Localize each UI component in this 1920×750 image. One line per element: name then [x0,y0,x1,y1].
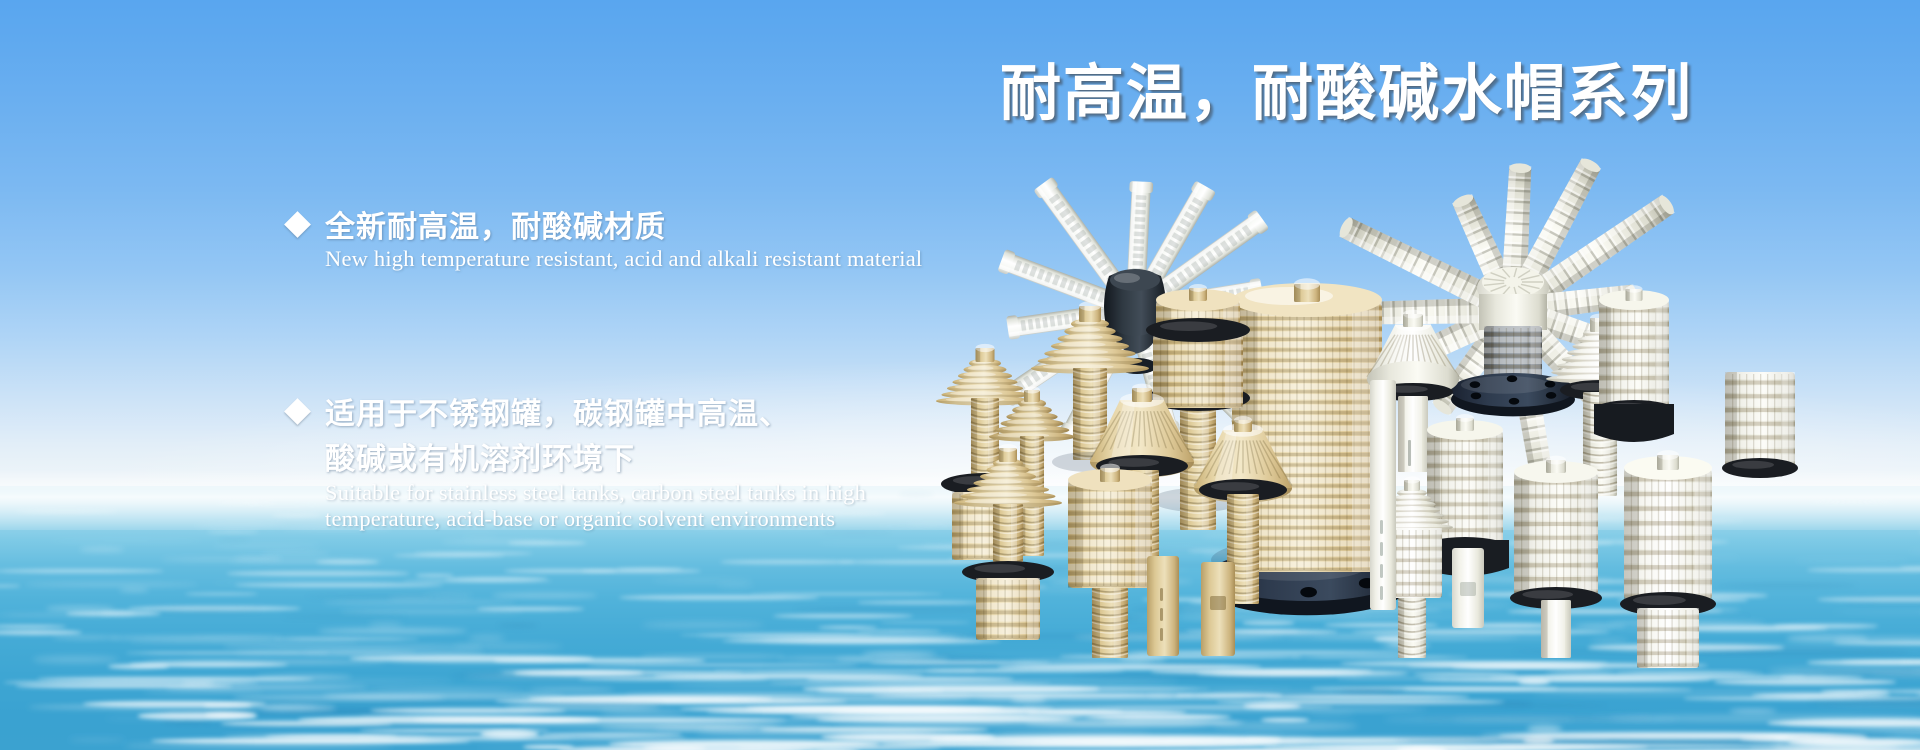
feature-bullet-1: 全新耐高温，耐酸碱材质 New high temperature resista… [288,205,922,272]
bullet-2-cn-text: 适用于不锈钢罐，碳钢罐中高温、 酸碱或有机溶剂环境下 [325,392,866,482]
feature-bullet-2: 适用于不锈钢罐，碳钢罐中高温、 酸碱或有机溶剂环境下 Suitable for … [288,392,866,532]
bullet-1-row: 全新耐高温，耐酸碱材质 [288,205,922,250]
page-title: 耐高温，耐酸碱水帽系列 [1000,58,1693,128]
bullet-2-row: 适用于不锈钢罐，碳钢罐中高温、 酸碱或有机溶剂环境下 Suitable for … [288,392,866,532]
diamond-bullet-icon [284,211,311,238]
bullet-2-text-wrap: 适用于不锈钢罐，碳钢罐中高温、 酸碱或有机溶剂环境下 Suitable for … [325,392,866,532]
bullet-1-en-text: New high temperature resistant, acid and… [325,246,922,272]
diamond-bullet-icon [284,398,311,425]
banner-image: 耐高温，耐酸碱水帽系列 全新耐高温，耐酸碱材质 New high tempera… [0,0,1920,750]
bullet-1-cn-text: 全新耐高温，耐酸碱材质 [325,205,666,250]
bullet-2-en-text: Suitable for stainless steel tanks, carb… [325,480,866,532]
